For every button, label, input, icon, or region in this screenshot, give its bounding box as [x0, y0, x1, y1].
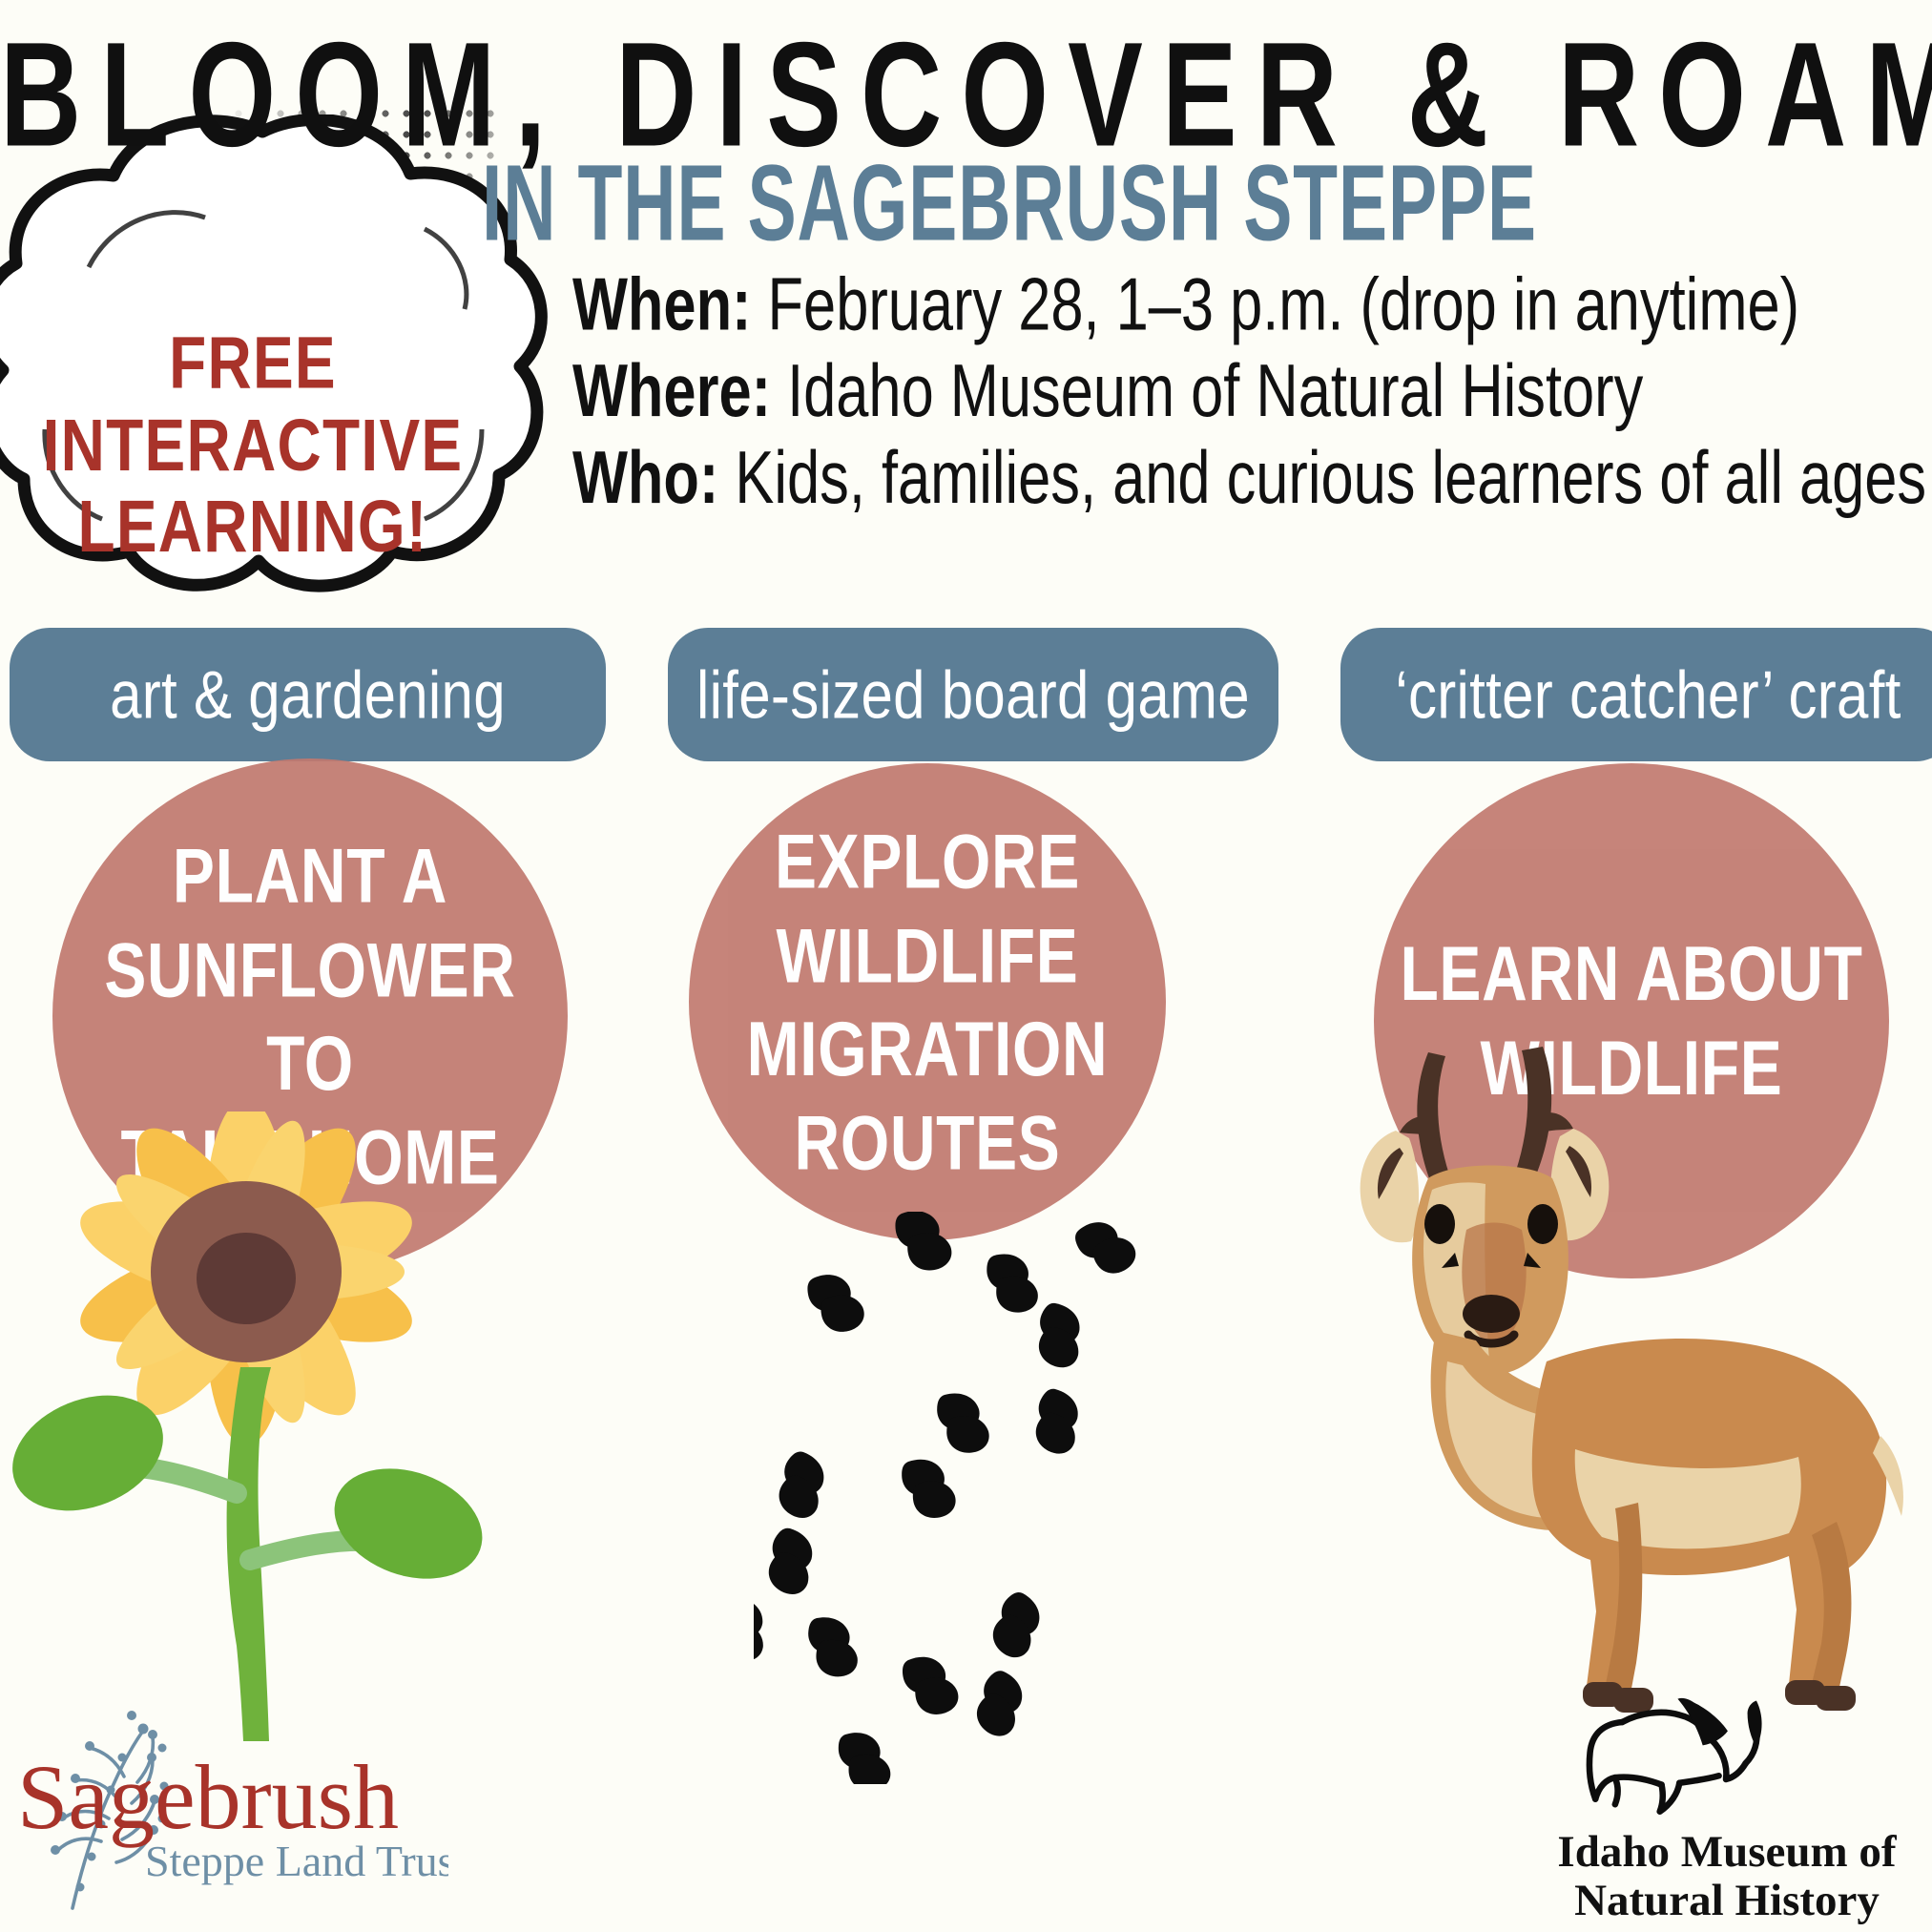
badge-line-1: FREE [0, 322, 510, 405]
poster-canvas: BLOOM, DISCOVER & ROAM IN THE SAGEBRUSH … [0, 0, 1932, 1932]
detail-row-when: When: February 28, 1–3 p.m. (drop in any… [572, 267, 1914, 343]
event-details: When: February 28, 1–3 p.m. (drop in any… [572, 267, 1914, 528]
when-value: February 28, 1–3 p.m. (drop in anytime) [768, 263, 1799, 346]
activity-pill-label-2: life-sized board game [696, 655, 1250, 733]
sunflower-icon [0, 1111, 496, 1741]
logo-idaho-museum-natural-history: Idaho Museum of Natural History [1531, 1679, 1922, 1922]
detail-row-where: Where: Idaho Museum of Natural History [572, 354, 1914, 430]
logo-sagebrush-steppe-land-trust: Sagebrush Steppe Land Trust [10, 1698, 448, 1918]
where-label: Where: [572, 350, 771, 433]
when-label: When: [572, 263, 751, 346]
activity-pill-board-game[interactable]: life-sized board game [668, 628, 1278, 761]
hoof-prints-icon [754, 1212, 1193, 1784]
where-value: Idaho Museum of Natural History [787, 350, 1643, 433]
activity-pill-label-3: ‘critter catcher’ craft [1395, 655, 1901, 733]
activity-pill-art-gardening[interactable]: art & gardening [10, 628, 606, 761]
who-value: Kids, families, and curious learners of … [735, 437, 1926, 520]
hoof-print-trail-illustration [754, 1212, 1193, 1784]
logo-sagebrush-wordmark: Sagebrush [17, 1746, 399, 1848]
logo-imnh-wordmark: Idaho Museum of Natural History [1531, 1828, 1922, 1925]
activity-circle-text-2: EXPLORE WILDLIFE MIGRATION ROUTES [722, 815, 1133, 1190]
free-learning-cloud-badge: FREE INTERACTIVE LEARNING! [0, 114, 549, 611]
sagebrush-sprig-icon: Sagebrush Steppe Land Trust [10, 1698, 448, 1918]
sunflower-leaf-right [319, 1449, 496, 1598]
pronghorn-antelope-illustration [1340, 1026, 1932, 1732]
activity-pill-label-1: art & gardening [110, 655, 506, 733]
badge-line-2: INTERACTIVE [0, 405, 510, 487]
detail-row-who: Who: Kids, families, and curious learner… [572, 441, 1914, 517]
activity-pill-critter-catcher[interactable]: ‘critter catcher’ craft [1340, 628, 1932, 761]
sunflower-illustration [0, 1111, 496, 1741]
badge-line-3: LEARNING! [0, 487, 510, 569]
page-subtitle: IN THE SAGEBRUSH STEPPE [482, 141, 1537, 266]
activity-circle-migration: EXPLORE WILDLIFE MIGRATION ROUTES [689, 763, 1166, 1240]
badge-text: FREE INTERACTIVE LEARNING! [0, 322, 510, 569]
who-label: Who: [572, 437, 718, 520]
pronghorn-icon [1340, 1026, 1932, 1732]
sunflower-center-inner [197, 1233, 296, 1324]
logo-sagebrush-tagline: Steppe Land Trust [145, 1837, 448, 1885]
bison-icon [1531, 1679, 1922, 1822]
